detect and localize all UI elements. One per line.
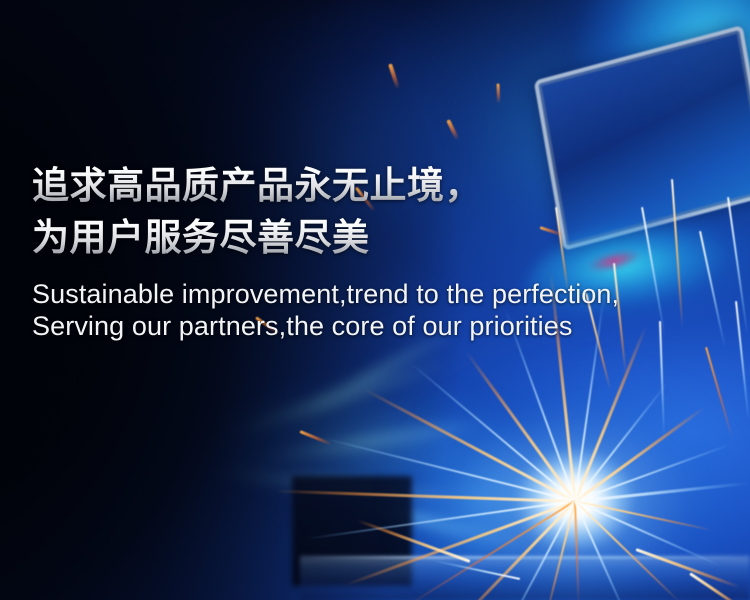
subtitle-line-2: Serving our partners,the core of our pri… xyxy=(32,310,692,342)
headline-line-1: 追求高品质产品永无止境， xyxy=(32,160,692,212)
hero-text-block: 追求高品质产品永无止境， 为用户服务尽善尽美 Sustainable impro… xyxy=(32,160,692,342)
subtitle-line-1: Sustainable improvement,trend to the per… xyxy=(32,278,692,310)
welding-arc-core xyxy=(552,482,598,520)
hero-banner: 追求高品质产品永无止境， 为用户服务尽善尽美 Sustainable impro… xyxy=(0,0,750,600)
headline-line-2: 为用户服务尽善尽美 xyxy=(32,212,692,264)
